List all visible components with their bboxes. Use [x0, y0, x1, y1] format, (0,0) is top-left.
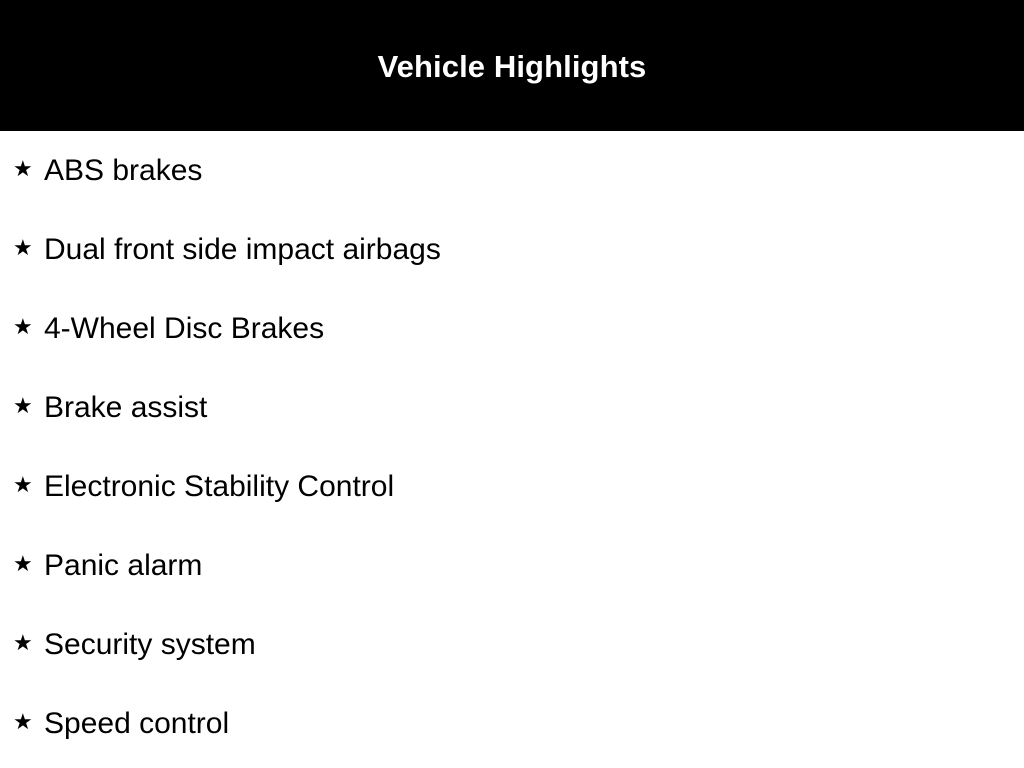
list-item: ★ ABS brakes: [0, 131, 1024, 210]
list-item: ★ Dual front side impact airbags: [0, 210, 1024, 289]
star-bullet-icon: ★: [13, 396, 31, 418]
list-item: ★ Speed control: [0, 684, 1024, 763]
list-item-label: Brake assist: [44, 393, 207, 423]
star-bullet-icon: ★: [13, 475, 31, 497]
list-item: ★ Electronic Stability Control: [0, 447, 1024, 526]
header-banner: Vehicle Highlights: [0, 0, 1024, 131]
list-item-label: Security system: [44, 630, 256, 660]
list-item: ★ Security system: [0, 605, 1024, 684]
star-bullet-icon: ★: [13, 317, 31, 339]
vehicle-highlights-slide: Vehicle Highlights ★ ABS brakes ★ Dual f…: [0, 0, 1024, 768]
list-item: ★ Brake assist: [0, 368, 1024, 447]
star-bullet-icon: ★: [13, 712, 31, 734]
list-item: ★ 4-Wheel Disc Brakes: [0, 289, 1024, 368]
star-bullet-icon: ★: [13, 554, 31, 576]
list-item-label: Electronic Stability Control: [44, 472, 394, 502]
star-bullet-icon: ★: [13, 238, 31, 260]
star-bullet-icon: ★: [13, 159, 31, 181]
list-item-label: ABS brakes: [44, 156, 202, 186]
list-item-label: Dual front side impact airbags: [44, 235, 441, 265]
list-item-label: Panic alarm: [44, 551, 202, 581]
list-item: ★ Panic alarm: [0, 526, 1024, 605]
vehicle-highlights-list: ★ ABS brakes ★ Dual front side impact ai…: [0, 131, 1024, 763]
page-title: Vehicle Highlights: [378, 51, 647, 82]
list-item-label: Speed control: [44, 709, 229, 739]
list-item-label: 4-Wheel Disc Brakes: [44, 314, 324, 344]
star-bullet-icon: ★: [13, 633, 31, 655]
